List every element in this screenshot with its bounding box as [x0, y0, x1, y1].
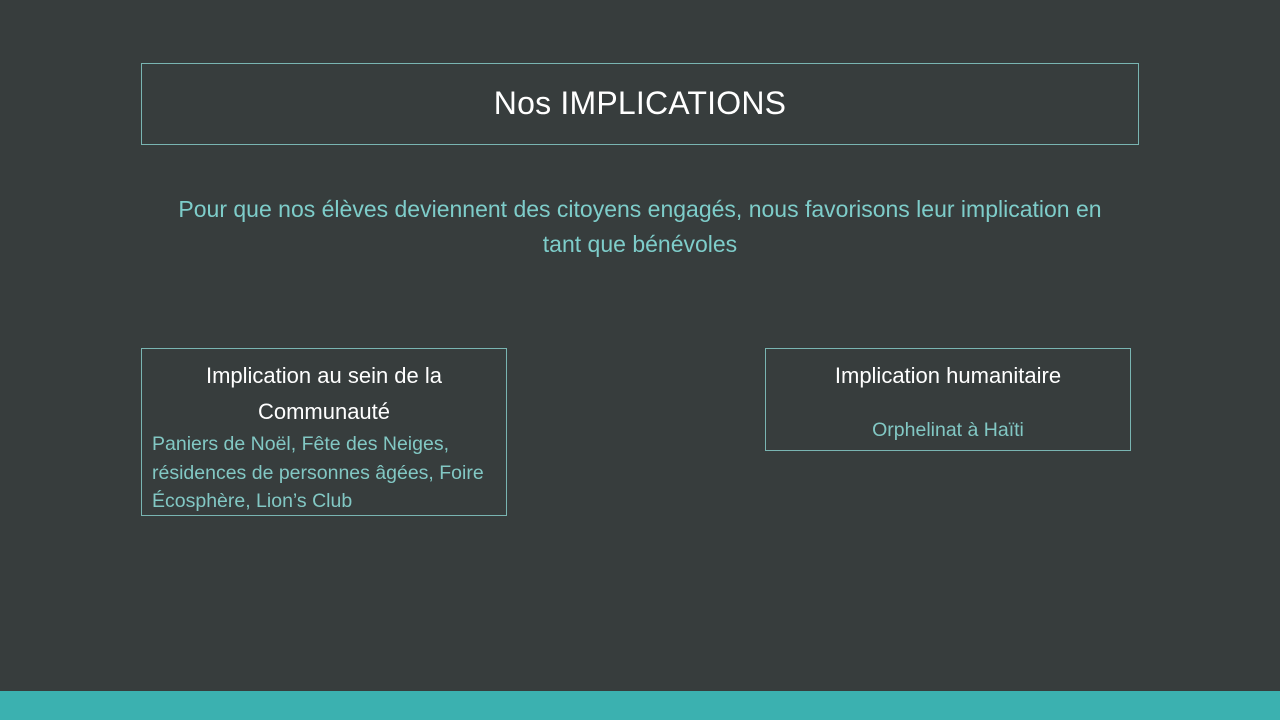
- bottom-accent-bar: [0, 691, 1280, 720]
- panel-community-body: Paniers de Noël, Fête des Neiges, réside…: [150, 430, 498, 516]
- page-title: Nos IMPLICATIONS: [494, 86, 786, 121]
- panel-humanitarian-heading: Implication humanitaire: [774, 358, 1122, 394]
- panel-humanitarian: Implication humanitaire Orphelinat à Haï…: [765, 348, 1131, 451]
- panel-community-heading: Implication au sein de la Communauté: [150, 358, 498, 430]
- title-box: Nos IMPLICATIONS: [141, 63, 1139, 145]
- slide-canvas: Nos IMPLICATIONS Pour que nos élèves dev…: [0, 0, 1280, 720]
- slide-subtitle: Pour que nos élèves deviennent des citoy…: [176, 192, 1104, 262]
- panel-humanitarian-body: Orphelinat à Haïti: [774, 416, 1122, 445]
- panel-community: Implication au sein de la Communauté Pan…: [141, 348, 507, 516]
